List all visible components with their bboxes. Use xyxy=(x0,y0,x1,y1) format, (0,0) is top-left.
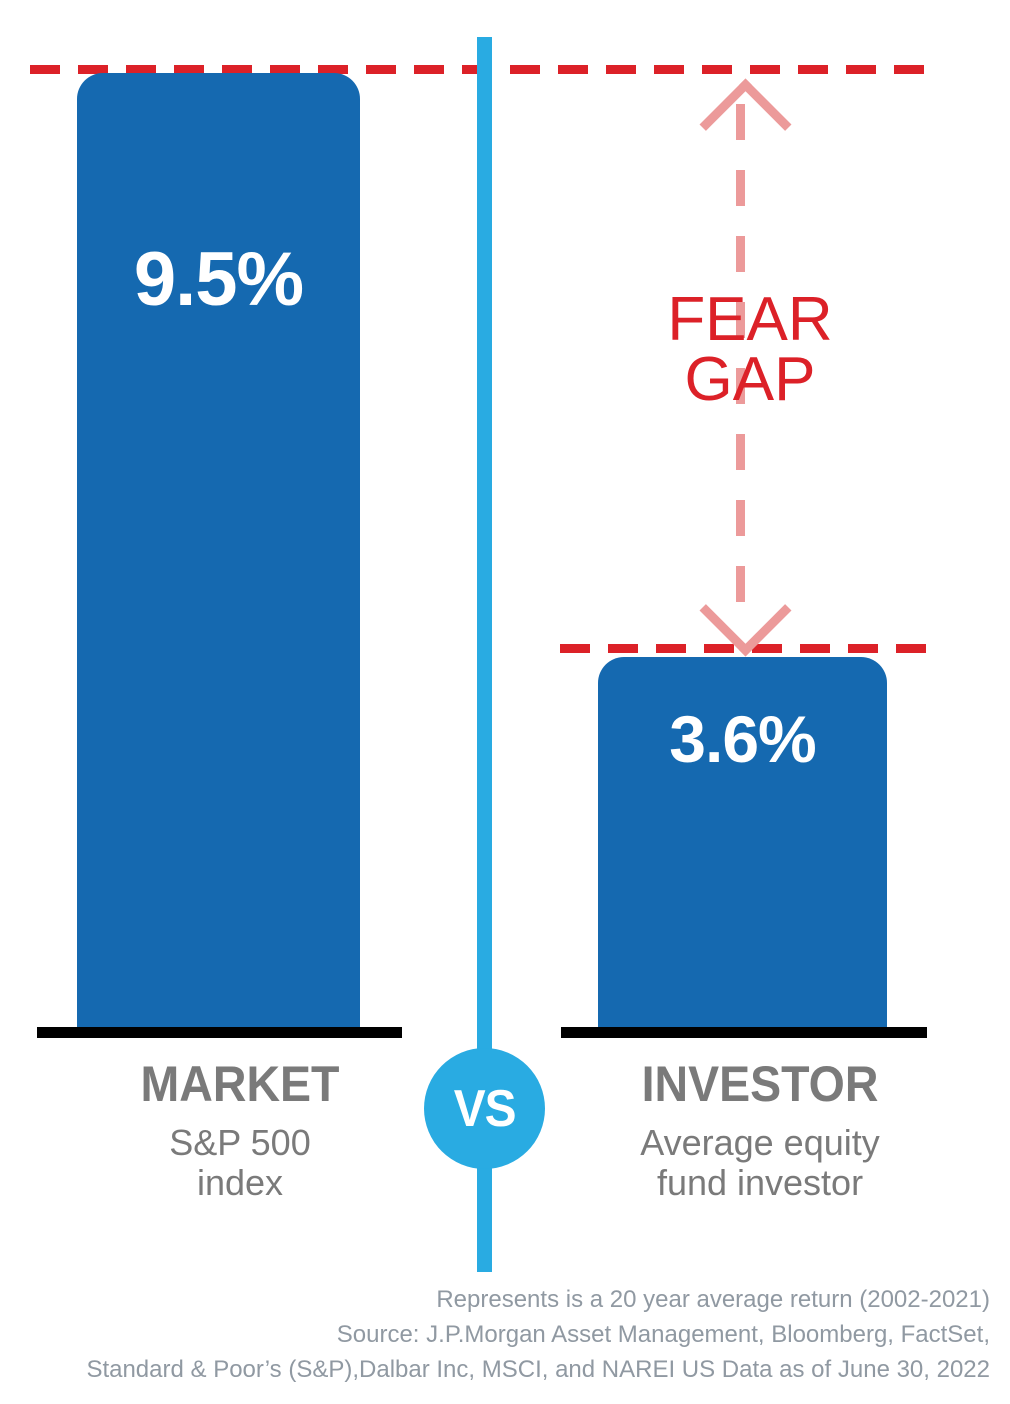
category-market: MARKET S&P 500 index xyxy=(40,1058,440,1203)
category-investor-subtitle: Average equity fund investor xyxy=(560,1123,960,1204)
footnote-line-2: Source: J.P.Morgan Asset Management, Blo… xyxy=(0,1318,990,1353)
category-investor-subtitle-line2: fund investor xyxy=(560,1163,960,1203)
bar-market: 9.5% xyxy=(77,73,360,1033)
baseline-investor xyxy=(561,1027,927,1038)
category-investor-title: INVESTOR xyxy=(574,1058,946,1111)
vs-badge-label: VS xyxy=(454,1083,516,1135)
arrow-down-icon xyxy=(700,565,792,657)
arrow-up-icon xyxy=(700,79,792,171)
bar-investor: 3.6% xyxy=(598,657,887,1033)
fear-gap-line1: FEAR xyxy=(640,290,860,350)
category-market-subtitle-line1: S&P 500 xyxy=(40,1123,440,1163)
category-investor: INVESTOR Average equity fund investor xyxy=(560,1058,960,1203)
footnote-line-1: Represents is a 20 year average return (… xyxy=(0,1283,990,1318)
footnote-line-3: Standard & Poor’s (S&P),Dalbar Inc, MSCI… xyxy=(0,1353,990,1388)
vs-badge: VS xyxy=(424,1048,545,1169)
category-market-title: MARKET xyxy=(54,1058,426,1111)
bar-market-value-label: 9.5% xyxy=(77,236,360,323)
category-market-subtitle: S&P 500 index xyxy=(40,1123,440,1204)
baseline-market xyxy=(37,1027,402,1038)
category-market-subtitle-line2: index xyxy=(40,1163,440,1203)
fear-gap-label: FEAR GAP xyxy=(640,290,860,410)
infographic-canvas: 9.5% 3.6% FEAR GAP VS MARKET S&P 500 ind… xyxy=(0,0,1010,1404)
bar-investor-value-label: 3.6% xyxy=(598,701,887,777)
fear-gap-line2: GAP xyxy=(640,350,860,410)
category-investor-subtitle-line1: Average equity xyxy=(560,1123,960,1163)
footnote: Represents is a 20 year average return (… xyxy=(0,1283,990,1387)
